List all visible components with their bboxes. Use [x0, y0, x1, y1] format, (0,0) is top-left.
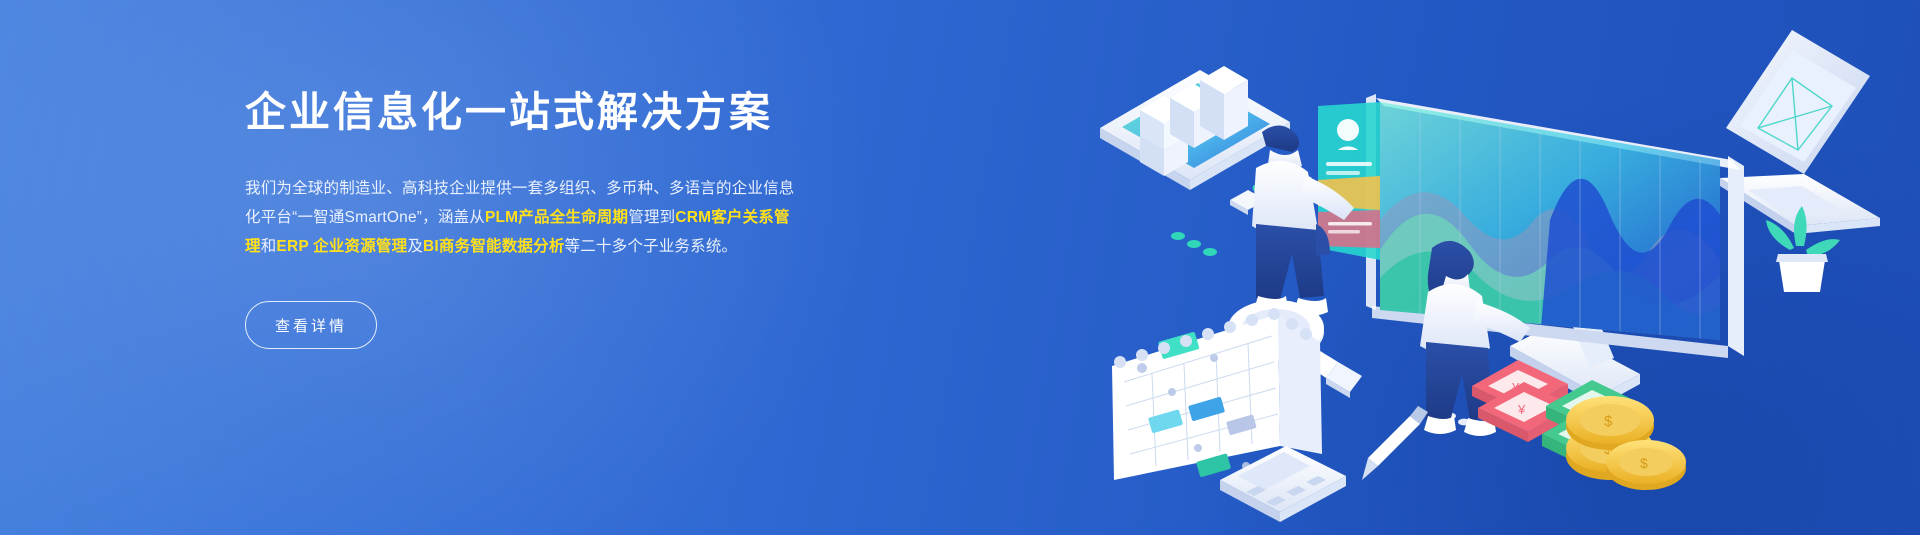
- hero-banner: 企业信息化一站式解决方案 我们为全球的制造业、高科技企业提供一套多组织、多币种、…: [0, 0, 1920, 535]
- view-details-button[interactable]: 查看详情: [245, 301, 377, 349]
- description-segment-3: 和: [261, 238, 277, 255]
- highlight-plm: PLM产品全生命周期: [485, 209, 628, 226]
- svg-text:$: $: [1604, 413, 1613, 430]
- highlight-erp: ERP 企业资源管理: [276, 238, 407, 255]
- description-segment-5: 等二十多个子业务系统。: [565, 238, 738, 255]
- desktop-monitor-icon: [1318, 94, 1744, 406]
- hero-illustration: ¥ ¥ $: [1080, 10, 1880, 530]
- svg-text:$: $: [1640, 455, 1648, 471]
- description-segment-2: 管理到: [628, 209, 675, 226]
- calculator-icon: [1220, 446, 1346, 522]
- highlight-bi: BI商务智能数据分析: [423, 238, 565, 255]
- hero-content: 企业信息化一站式解决方案 我们为全球的制造业、高科技企业提供一套多组织、多币种、…: [245, 88, 865, 349]
- page-title: 企业信息化一站式解决方案: [245, 88, 865, 137]
- monitor-side-panel: [1318, 102, 1380, 260]
- svg-text:¥: ¥: [1517, 402, 1526, 417]
- pen-icon: [1362, 406, 1428, 480]
- description-segment-4: 及: [407, 238, 423, 255]
- hero-description: 我们为全球的制造业、高科技企业提供一套多组织、多币种、多语言的企业信息化平台“一…: [245, 174, 801, 261]
- gold-coins-icon: $ $ $: [1566, 396, 1686, 490]
- dots-decoration-icon: [1171, 232, 1217, 256]
